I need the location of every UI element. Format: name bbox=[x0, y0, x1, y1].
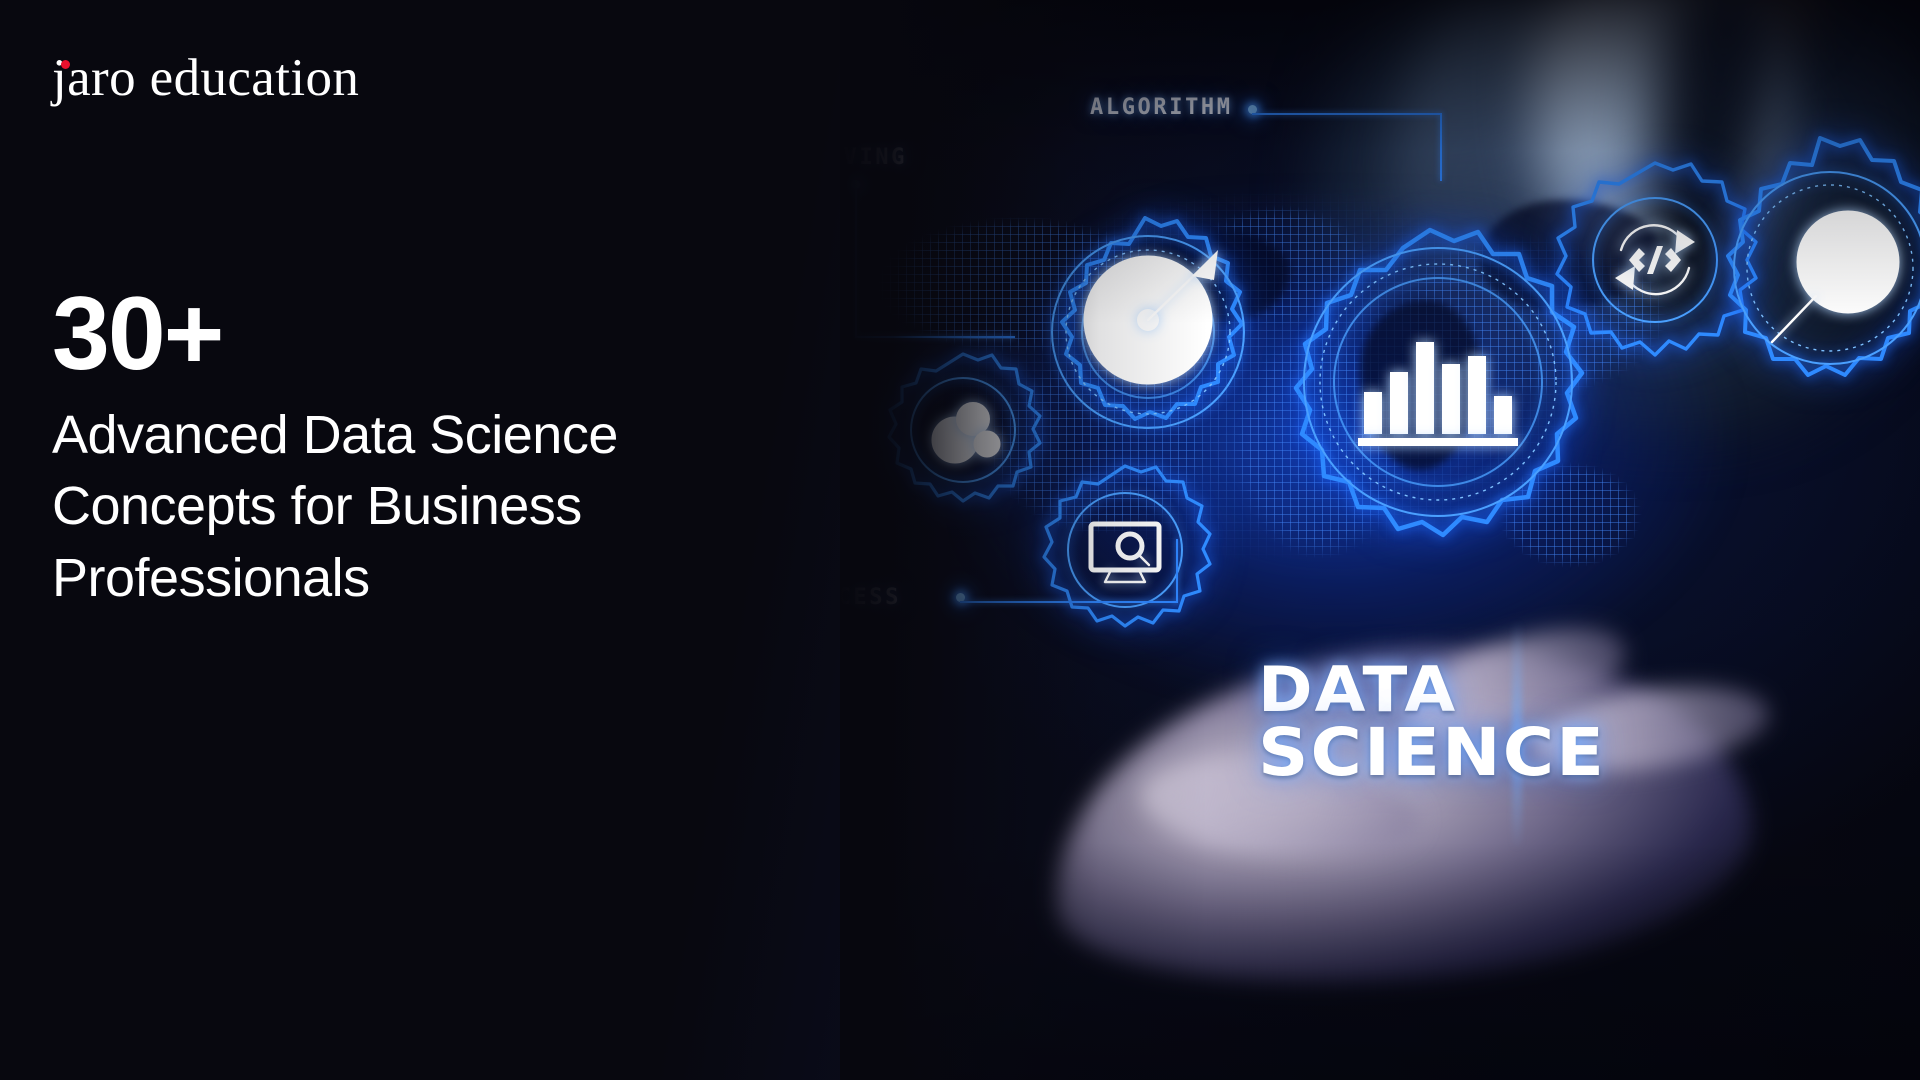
callout-line bbox=[960, 601, 1178, 603]
callout-label-solving: SOLVING bbox=[840, 145, 907, 170]
hero-banner: SOLVING ALGORITHM PROCESS DATA SCIENCE j bbox=[0, 0, 1920, 1080]
callout-line bbox=[1440, 113, 1442, 181]
logo-dot-icon bbox=[61, 60, 70, 69]
gear-monitor bbox=[1020, 450, 1230, 660]
callout-process: PROCESS bbox=[840, 585, 901, 610]
gear-magnifier bbox=[1670, 120, 1920, 450]
callout-line bbox=[855, 336, 1015, 338]
cogs-icon bbox=[935, 405, 998, 460]
callout-label-process: PROCESS bbox=[840, 585, 901, 610]
gear-analytics bbox=[1210, 210, 1650, 670]
bar-chart-icon bbox=[1358, 342, 1518, 446]
callout-line bbox=[1176, 539, 1178, 603]
hero-subheadline: Advanced Data Science Concepts for Busin… bbox=[52, 400, 842, 614]
target-icon bbox=[1090, 250, 1218, 378]
hero-headline: 30+ bbox=[52, 282, 222, 386]
data-science-wordmark: DATA SCIENCE bbox=[1258, 660, 1606, 785]
magnifier-icon bbox=[1772, 216, 1894, 342]
callout-line bbox=[855, 188, 857, 338]
callout-solving: SOLVING bbox=[840, 145, 907, 170]
callout-algorithm: ALGORITHM bbox=[1090, 95, 1233, 120]
hero-image: SOLVING ALGORITHM PROCESS DATA SCIENCE bbox=[840, 0, 1920, 1080]
callout-label-algorithm: ALGORITHM bbox=[1090, 95, 1233, 120]
monitor-search-icon bbox=[1091, 524, 1159, 582]
jaro-education-logo[interactable]: jaro education bbox=[52, 52, 359, 105]
wordmark-line-science: SCIENCE bbox=[1258, 721, 1606, 786]
callout-line bbox=[1252, 113, 1442, 115]
logo-text: jaro education bbox=[52, 49, 359, 107]
